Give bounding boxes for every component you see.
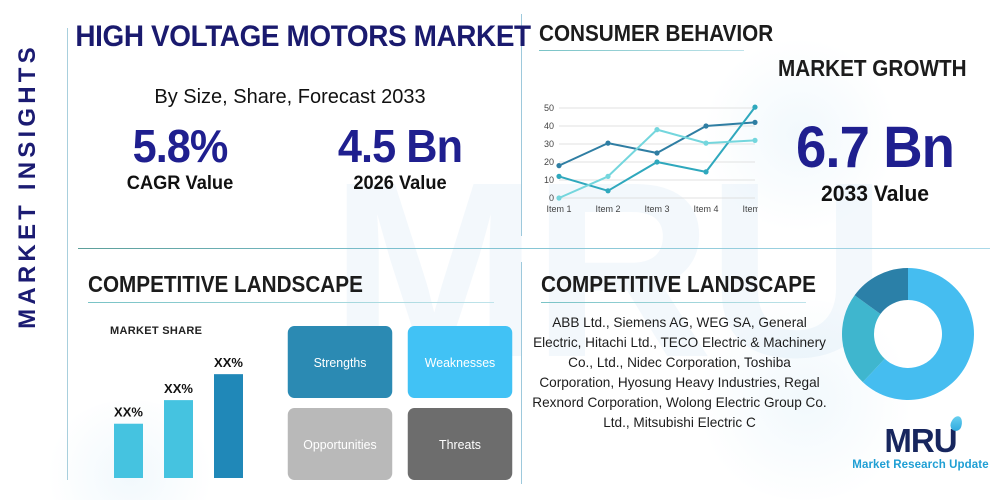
section-rule-competitive-landscape-right bbox=[541, 302, 806, 303]
svg-text:20: 20 bbox=[544, 157, 554, 167]
kpi-forecast-year-caption: 2033 Value bbox=[765, 181, 986, 207]
page-subtitle: By Size, Share, Forecast 2033 bbox=[80, 86, 500, 109]
section-title-competitive-landscape-left: COMPETITIVE LANDSCAPE bbox=[88, 271, 363, 298]
consumer-behavior-line-chart: 01020304050 Item 1Item 2Item 3Item 4Item… bbox=[533, 98, 758, 223]
svg-text:XX%: XX% bbox=[114, 405, 143, 420]
kpi-forecast-year: 6.7 Bn 2033 Value bbox=[760, 118, 990, 207]
kpi-forecast-year-value: 6.7 Bn bbox=[767, 118, 983, 179]
swot-box-label: Threats bbox=[439, 437, 481, 452]
logo-mark-text: MRU bbox=[884, 422, 956, 459]
section-rule-consumer-behavior bbox=[539, 50, 744, 51]
line-chart-svg: 01020304050 Item 1Item 2Item 3Item 4Item… bbox=[533, 98, 758, 223]
page-title: HIGH VOLTAGE MOTORS MARKET bbox=[75, 20, 484, 54]
kpi-cagr: 5.8% CAGR Value bbox=[85, 122, 275, 195]
svg-text:XX%: XX% bbox=[214, 355, 243, 370]
kpi-base-year-value: 4.5 Bn bbox=[306, 122, 494, 170]
svg-text:Item 1: Item 1 bbox=[546, 204, 571, 214]
swot-box-label: Weaknesses bbox=[425, 355, 495, 370]
market-share-donut-chart bbox=[838, 264, 978, 404]
logo-tagline: Market Research Update bbox=[848, 459, 993, 471]
section-title-market-growth: MARKET GROWTH bbox=[778, 55, 967, 82]
brand-logo: MRU Market Research Update bbox=[848, 424, 993, 471]
svg-text:Item 3: Item 3 bbox=[644, 204, 669, 214]
svg-text:10: 10 bbox=[544, 175, 554, 185]
donut-slices bbox=[842, 268, 974, 400]
key-companies-list: ABB Ltd., Siemens AG, WEG SA, General El… bbox=[532, 313, 827, 433]
logo-mark: MRU bbox=[884, 424, 956, 457]
section-title-consumer-behavior: CONSUMER BEHAVIOR bbox=[539, 20, 773, 47]
kpi-cagr-value: 5.8% bbox=[91, 122, 270, 170]
svg-text:0: 0 bbox=[549, 193, 554, 203]
market-share-bar-chart: XX%XX%XX% bbox=[92, 318, 267, 486]
divider-vertical-left bbox=[67, 28, 68, 480]
donut-chart-svg bbox=[838, 264, 978, 404]
swot-box-weaknesses[interactable]: Weaknesses bbox=[408, 326, 513, 398]
bar-chart-svg: XX%XX%XX% bbox=[92, 318, 267, 486]
infographic-root: MRU MARKET INSIGHTS HIGH VOLTAGE MOTORS … bbox=[0, 0, 1000, 500]
svg-text:XX%: XX% bbox=[164, 381, 193, 396]
svg-text:Item 2: Item 2 bbox=[595, 204, 620, 214]
line-chart-series bbox=[556, 105, 757, 201]
side-label-market-insights: MARKET INSIGHTS bbox=[14, 6, 42, 366]
kpi-base-year-caption: 2026 Value bbox=[304, 173, 496, 195]
swot-box-label: Strengths bbox=[314, 355, 367, 370]
section-title-competitive-landscape-right: COMPETITIVE LANDSCAPE bbox=[541, 271, 816, 298]
kpi-base-year: 4.5 Bn 2026 Value bbox=[300, 122, 500, 195]
divider-horizontal-mid bbox=[78, 248, 990, 249]
svg-text:40: 40 bbox=[544, 121, 554, 131]
swot-box-threats[interactable]: Threats bbox=[408, 408, 513, 480]
swot-box-opportunities[interactable]: Opportunities bbox=[288, 408, 393, 480]
svg-text:Item 4: Item 4 bbox=[693, 204, 718, 214]
line-chart-x-axis-labels: Item 1Item 2Item 3Item 4Item 5 bbox=[546, 204, 758, 214]
svg-text:50: 50 bbox=[544, 103, 554, 113]
kpi-cagr-caption: CAGR Value bbox=[89, 173, 271, 195]
svg-text:30: 30 bbox=[544, 139, 554, 149]
divider-vertical-bottom bbox=[521, 262, 522, 484]
section-rule-competitive-landscape-left bbox=[88, 302, 494, 303]
market-share-title: MARKET SHARE bbox=[110, 325, 202, 337]
svg-text:Item 5: Item 5 bbox=[742, 204, 758, 214]
swot-matrix: StrengthsWeaknessesOpportunitiesThreats bbox=[285, 326, 515, 483]
swot-box-strengths[interactable]: Strengths bbox=[288, 326, 393, 398]
swot-box-label: Opportunities bbox=[303, 437, 376, 452]
line-chart-y-axis-labels: 01020304050 bbox=[544, 103, 554, 203]
